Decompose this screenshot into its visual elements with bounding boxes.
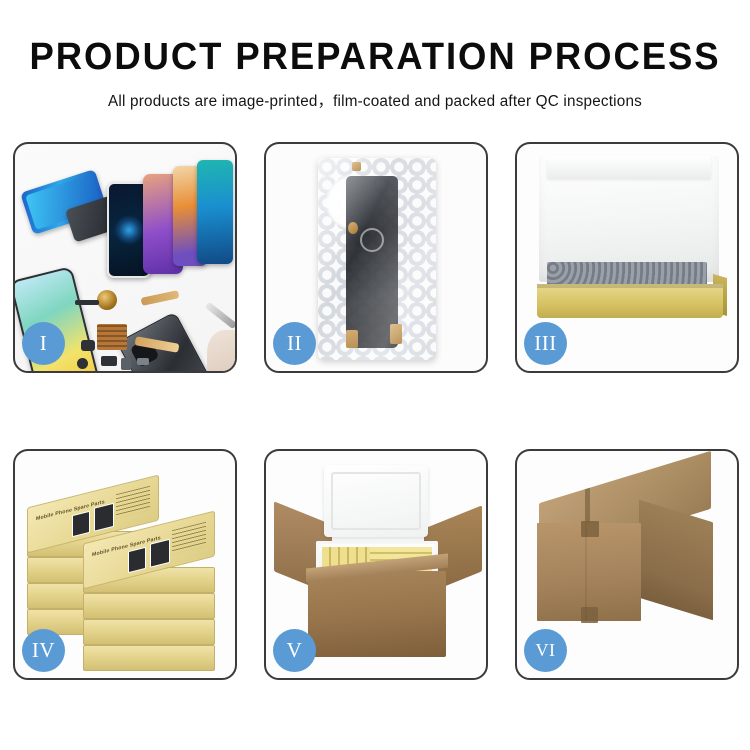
copper-coil-icon (97, 290, 117, 310)
process-panel-4: Mobile Phone Spare Parts Mobile Phone Sp… (13, 449, 237, 680)
hand-icon (207, 330, 237, 373)
step-badge-2: II (273, 322, 316, 365)
tweezers-icon (205, 302, 237, 330)
header: PRODUCT PREPARATION PROCESS All products… (0, 0, 750, 111)
carton-seam (585, 523, 587, 621)
chip-grid-icon (97, 324, 127, 350)
process-panel-2: II (264, 142, 488, 373)
product-window-icon (150, 539, 170, 568)
step-badge-5: V (273, 629, 316, 672)
carton-body-icon (308, 571, 446, 657)
process-step-grid: I II III (13, 142, 739, 680)
flex-cable-icon (141, 290, 180, 306)
label-text-lines (172, 522, 206, 554)
process-panel-1: I (13, 142, 237, 373)
carton-side-icon (639, 500, 713, 621)
page-title: PRODUCT PREPARATION PROCESS (15, 38, 735, 78)
carton-front-icon (537, 523, 641, 621)
kraft-box-side (83, 593, 215, 619)
kraft-box-side (83, 619, 215, 645)
process-panel-6: VI (515, 449, 739, 680)
process-panel-3: III (515, 142, 739, 373)
product-preparation-infographic: PRODUCT PREPARATION PROCESS All products… (0, 0, 750, 750)
component-icon (137, 358, 149, 365)
teal-phone-screen-icon (197, 160, 233, 264)
label-text-lines (116, 486, 150, 518)
step-badge-6: VI (524, 629, 567, 672)
step-badge-3: III (524, 322, 567, 365)
product-window-icon (94, 503, 114, 532)
packing-tape-icon (581, 607, 598, 623)
kraft-box-side (83, 645, 215, 671)
process-panel-5: V (264, 449, 488, 680)
component-icon (75, 300, 99, 305)
step-badge-1: I (22, 322, 65, 365)
bubble-wrap-gloss (318, 158, 436, 360)
step-badge-4: IV (22, 629, 65, 672)
component-icon (121, 358, 131, 370)
foam-lid-icon (324, 465, 428, 537)
component-icon (77, 358, 88, 369)
component-icon (81, 340, 95, 351)
product-window-icon (72, 511, 90, 537)
component-icon (101, 356, 117, 366)
packing-tape-icon (581, 521, 599, 537)
bubble-wrap-bag-icon (318, 158, 436, 360)
product-window-icon (128, 547, 146, 573)
kraft-box-base-icon (537, 284, 723, 318)
page-subtitle: All products are image-printed，film-coat… (6, 89, 745, 111)
